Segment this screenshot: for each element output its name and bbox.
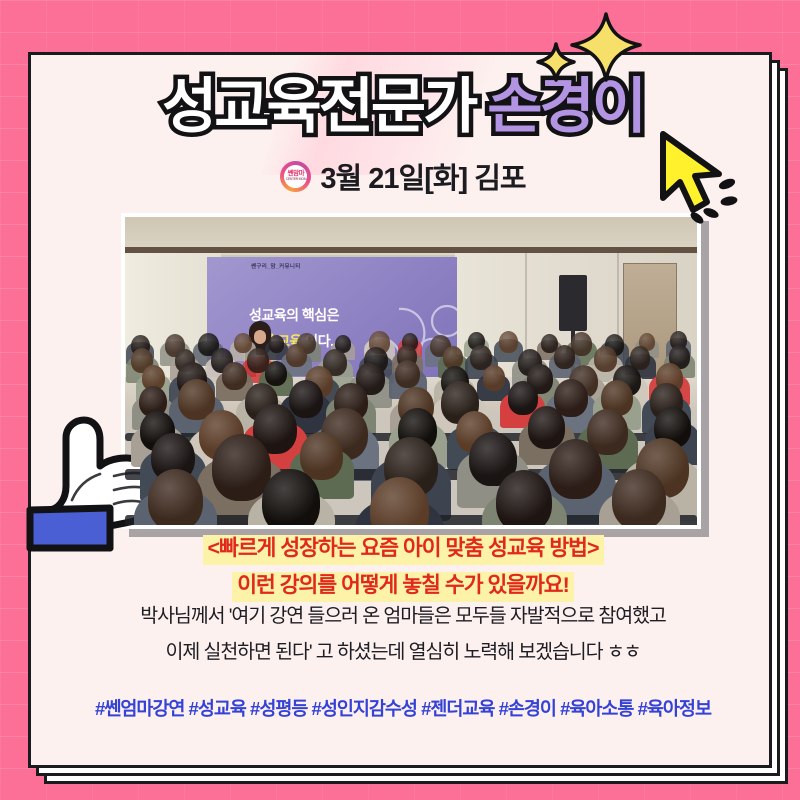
- lecture-hall-audience-photo: 쎈구리_맘_커뮤니티 성교육의 핵심은 관계 교육 이다.: [125, 217, 697, 525]
- audience-head: [395, 360, 420, 388]
- title-main-text: 성교육전문가: [162, 77, 475, 137]
- audience-head: [499, 331, 519, 353]
- quote-line-2: 이런 강의를 어떻게 놓칠 수가 있을까요!: [232, 572, 574, 602]
- sparkle-stars-icon: [528, 10, 668, 100]
- mouse-cursor-icon[interactable]: [655, 128, 755, 228]
- audience-head: [300, 432, 343, 480]
- body-line-1: 박사님께서 '여기 강연 들으러 온 엄마들은 모두들 자발적으로 참여했고: [31, 607, 772, 627]
- audience-head: [508, 381, 538, 415]
- event-date-label: 3월 21일[화] 김포: [320, 155, 525, 197]
- audience-head: [222, 362, 247, 390]
- brand-logo-text: 쎈맘마 CENTER MOM: [286, 171, 307, 182]
- audience-head: [212, 434, 271, 501]
- brand-logo-icon: 쎈맘마 CENTER MOM: [280, 161, 311, 192]
- audience-head: [554, 345, 575, 368]
- audience-head: [234, 333, 252, 353]
- audience-head: [483, 365, 505, 390]
- audience-head: [148, 469, 203, 525]
- audience-head: [528, 406, 565, 448]
- quote-line-1: <빠르게 성장하는 요즘 아이 맞춤 성교육 방법>: [203, 535, 604, 565]
- audience-head: [286, 344, 307, 367]
- photo-audience-crowd: [125, 337, 697, 525]
- audience-head: [269, 335, 284, 352]
- body-paragraph: 박사님께서 '여기 강연 들으러 온 엄마들은 모두들 자발적으로 참여했고 이…: [31, 607, 772, 678]
- audience-head: [594, 346, 617, 372]
- body-line-2: 이제 실천하면 된다' 고 하셨는데 열심히 노력해 보겠습니다 ㅎㅎ: [31, 643, 772, 663]
- slide-header-text: 쎈구리_맘_커뮤니티: [251, 262, 301, 270]
- hashtag-list: #쎈엄마강연 #성교육 #성평등 #성인지감수성 #젠더교육 #손경이 #육아소…: [31, 695, 772, 721]
- audience-head: [289, 380, 323, 419]
- photo-loudspeaker: [559, 275, 587, 331]
- audience-head: [549, 439, 603, 499]
- audience-head: [612, 469, 666, 525]
- audience-head: [265, 361, 287, 386]
